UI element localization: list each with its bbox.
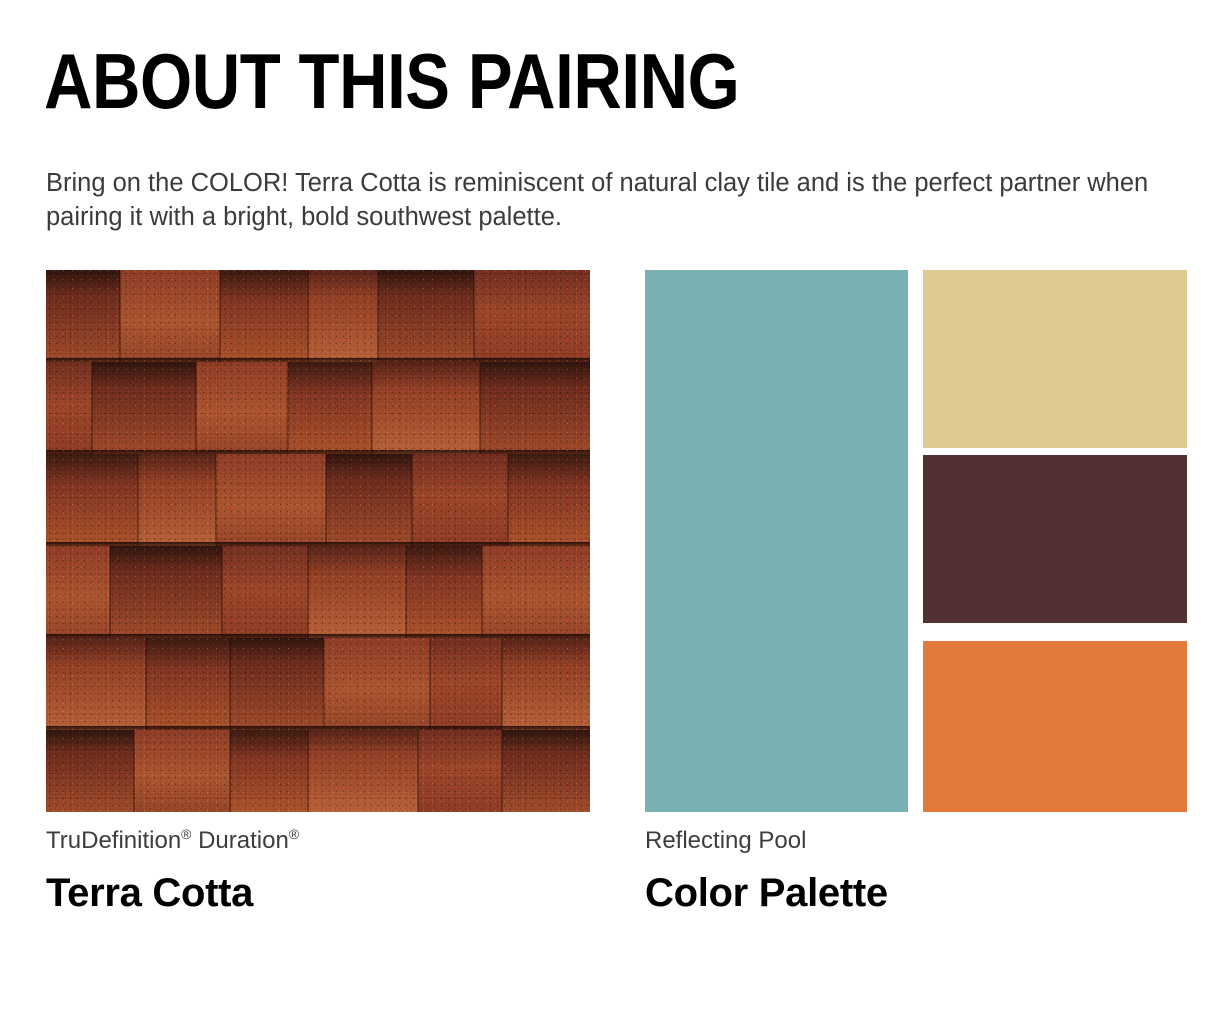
registered-mark-icon: ® xyxy=(289,826,299,842)
media-row xyxy=(0,270,1230,812)
registered-mark-icon: ® xyxy=(181,826,191,842)
page-title: ABOUT THIS PAIRING xyxy=(44,38,739,124)
shingle-product-text: Duration xyxy=(198,827,289,854)
color-swatch-accent-plum xyxy=(923,455,1187,623)
shingle-product-line: TruDefinition® Duration® xyxy=(46,826,299,856)
shingle-texture-graphic xyxy=(46,270,590,812)
color-swatch-accent-orange xyxy=(923,641,1187,812)
shingle-color-name: Terra Cotta xyxy=(46,870,299,916)
color-swatch-accent-tan xyxy=(923,270,1187,448)
palette-subtitle: Reflecting Pool xyxy=(645,826,888,856)
shingle-product-image xyxy=(46,270,590,812)
shingle-brand-text: TruDefinition xyxy=(46,827,181,854)
palette-title: Color Palette xyxy=(645,870,888,916)
accent-swatch-column xyxy=(923,270,1187,812)
intro-paragraph: Bring on the COLOR! Terra Cotta is remin… xyxy=(46,166,1151,234)
palette-caption-block: Reflecting Pool Color Palette xyxy=(645,826,888,916)
color-swatch-primary-teal xyxy=(645,270,908,812)
color-palette-group xyxy=(645,270,1187,812)
shingle-caption-block: TruDefinition® Duration® Terra Cotta xyxy=(46,826,299,916)
